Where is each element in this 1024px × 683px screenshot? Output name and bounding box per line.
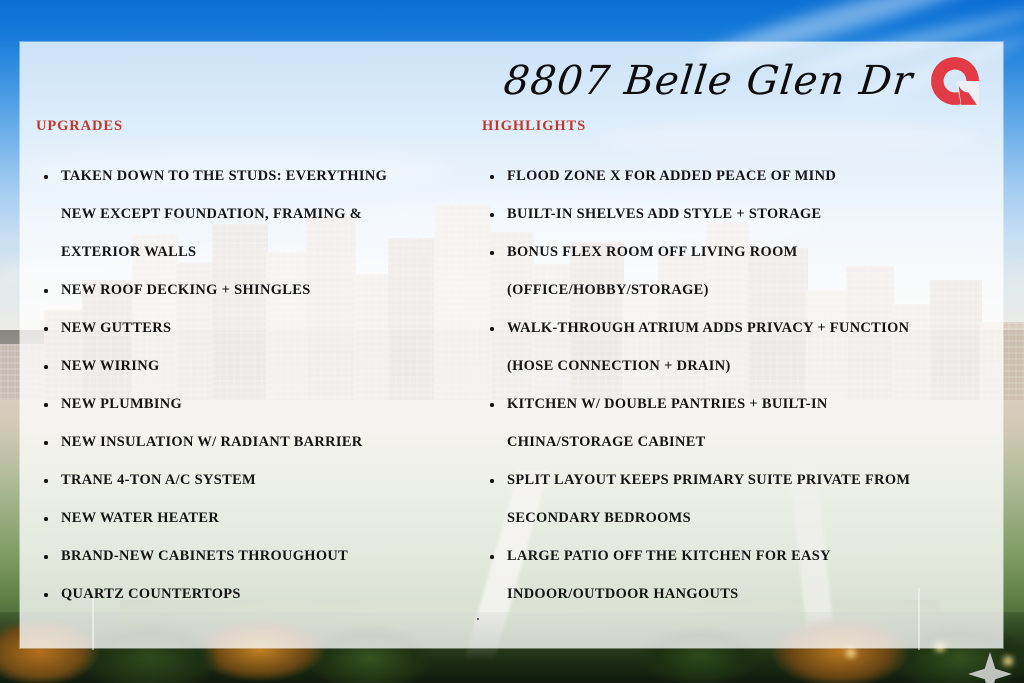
list-item: Walk-through atrium adds privacy + funct… <box>482 309 1003 385</box>
highlights-column: HIGHLIGHTS Flood zone X for added peace … <box>472 118 1003 638</box>
list-item: Taken down to the studs: everything new … <box>36 157 472 271</box>
brokerage-r-logo-icon <box>929 55 981 107</box>
light-glow <box>1003 656 1013 666</box>
list-item: New gutters <box>36 309 472 347</box>
list-item: Trane 4-ton A/C system <box>36 461 472 499</box>
highlights-heading: HIGHLIGHTS <box>482 118 1003 135</box>
list-item: Kitchen w/ double pantries + built-in ch… <box>482 385 1003 461</box>
highlights-list: Flood zone X for added peace of mind Bui… <box>482 157 1003 613</box>
list-item: Bonus flex room off living room (office/… <box>482 233 1003 309</box>
upgrades-heading: UPGRADES <box>36 118 472 135</box>
list-item: New wiring <box>36 347 472 385</box>
property-address-title: 8807 Belle Glen Dr <box>502 61 915 101</box>
light-glow <box>846 648 856 658</box>
upgrades-list: Taken down to the studs: everything new … <box>36 157 472 613</box>
list-item: Brand-new cabinets throughout <box>36 537 472 575</box>
list-item: New plumbing <box>36 385 472 423</box>
list-item: Split layout keeps primary suite private… <box>482 461 1003 537</box>
title-bar: 8807 Belle Glen Dr <box>20 42 1003 120</box>
list-item: Built-in shelves add style + storage <box>482 195 1003 233</box>
list-item: New insulation w/ radiant barrier <box>36 423 472 461</box>
feature-columns: UPGRADES Taken down to the studs: everyt… <box>20 118 1003 638</box>
list-item: New roof decking + shingles <box>36 271 472 309</box>
list-item: Large patio off the kitchen for easy ind… <box>482 537 1003 613</box>
list-item: Flood zone X for added peace of mind <box>482 157 1003 195</box>
upgrades-column: UPGRADES Taken down to the studs: everyt… <box>20 118 472 638</box>
stray-dot-artifact <box>477 618 479 620</box>
flyer-canvas: 8807 Belle Glen Dr UPGRADES Taken down t… <box>0 0 1024 683</box>
list-item: New water heater <box>36 499 472 537</box>
list-item: Quartz countertops <box>36 575 472 613</box>
